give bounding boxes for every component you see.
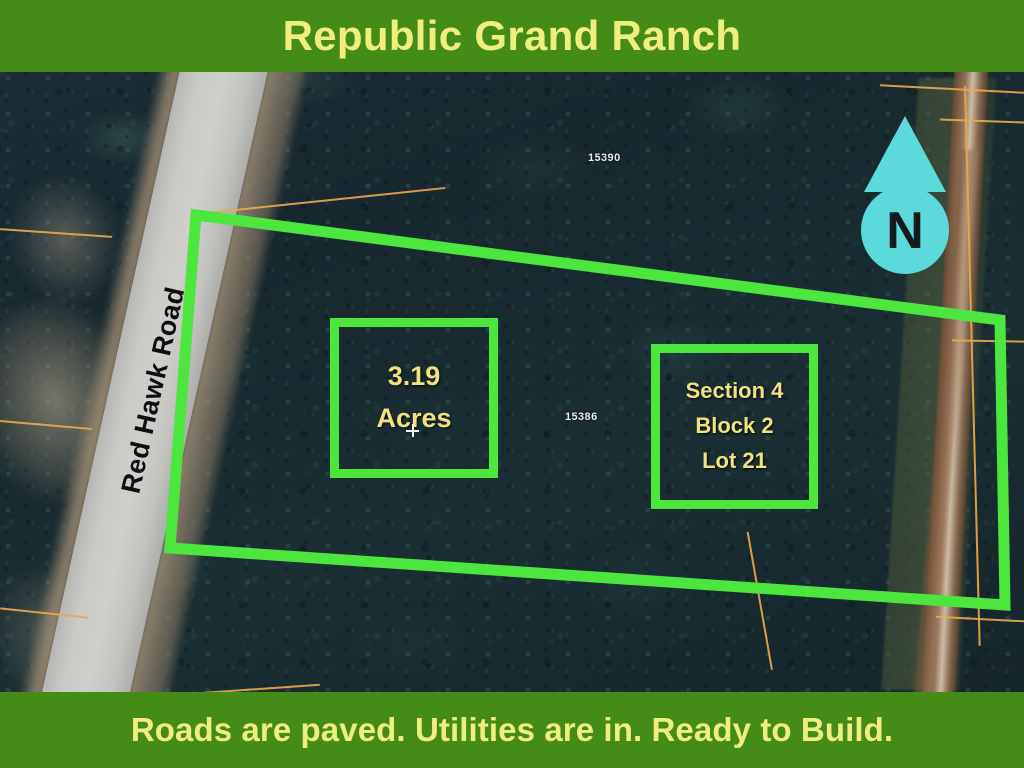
listing-aerial-map: Red Hawk Road 15390 15386 3.19 Acres Sec… bbox=[0, 0, 1024, 768]
bottom-banner: Roads are paved. Utilities are in. Ready… bbox=[0, 692, 1024, 768]
parcel-id-15390: 15390 bbox=[588, 152, 621, 164]
north-arrow-icon bbox=[864, 116, 946, 192]
parcel-lot: Lot 21 bbox=[702, 444, 767, 479]
parcel-callout: Section 4 Block 2 Lot 21 bbox=[651, 344, 818, 509]
top-banner: Republic Grand Ranch bbox=[0, 0, 1024, 72]
map-cursor-crosshair bbox=[406, 424, 419, 437]
parcel-section: Section 4 bbox=[686, 374, 784, 409]
acreage-value: 3.19 bbox=[388, 356, 441, 398]
parcel-block: Block 2 bbox=[695, 409, 773, 444]
compass-rose: N bbox=[858, 112, 954, 276]
acreage-callout: 3.19 Acres bbox=[330, 318, 498, 478]
page-title: Republic Grand Ranch bbox=[283, 12, 742, 60]
tagline-text: Roads are paved. Utilities are in. Ready… bbox=[131, 711, 893, 749]
compass-north-label: N bbox=[886, 202, 924, 260]
parcel-id-15386: 15386 bbox=[565, 411, 598, 423]
